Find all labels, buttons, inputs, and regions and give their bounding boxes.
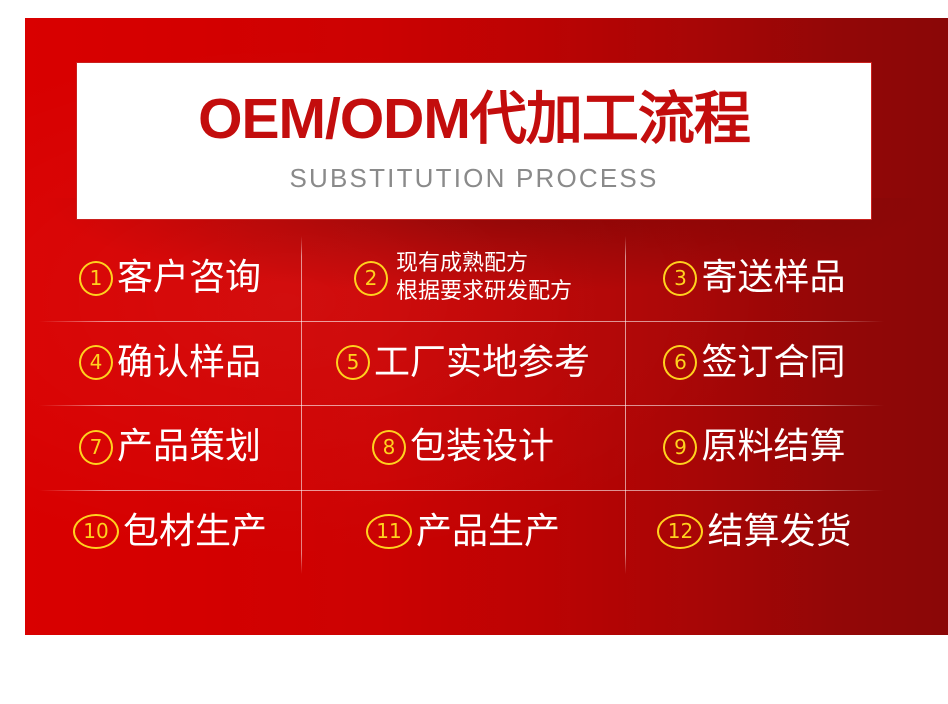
process-step-10[interactable]: 10包材生产 [39,490,301,575]
page-title: OEM/ODM代加工流程 [198,90,750,150]
title-banner: OEM/ODM代加工流程 SUBSTITUTION PROCESS [76,62,872,220]
step-number-badge: 4 [79,345,113,380]
step-label-line1: 现有成熟配方 [396,250,572,278]
process-step-6[interactable]: 6签订合同 [625,321,884,406]
step-number-badge: 8 [372,430,406,465]
process-step-4[interactable]: 4确认样品 [39,321,301,406]
step-number-badge: 2 [354,261,388,296]
step-label-line2: 根据要求研发配方 [396,278,572,306]
step-number-badge: 12 [657,514,703,549]
step-label: 确认样品 [117,345,261,381]
process-step-8[interactable]: 8包装设计 [301,405,625,490]
poster-root: OEM/ODM代加工流程 SUBSTITUTION PROCESS 1客户咨询2… [0,0,948,704]
step-label: 工厂实地参考 [374,345,590,381]
process-grid: 1客户咨询2现有成熟配方根据要求研发配方3寄送样品4确认样品5工厂实地参考6签订… [39,236,884,574]
step-number-badge: 3 [663,261,697,296]
step-label: 产品策划 [117,429,261,465]
step-label: 现有成熟配方根据要求研发配方 [396,250,572,306]
step-number-badge: 10 [73,514,119,549]
process-step-5[interactable]: 5工厂实地参考 [301,321,625,406]
step-label: 原料结算 [701,429,845,465]
page-subtitle: SUBSTITUTION PROCESS [289,163,658,194]
step-number-badge: 6 [663,345,697,380]
process-step-2[interactable]: 2现有成熟配方根据要求研发配方 [301,236,625,321]
process-step-9[interactable]: 9原料结算 [625,405,884,490]
step-label: 签订合同 [701,345,845,381]
step-number-badge: 7 [79,430,113,465]
step-label: 包装设计 [410,429,554,465]
process-step-1[interactable]: 1客户咨询 [39,236,301,321]
process-step-3[interactable]: 3寄送样品 [625,236,884,321]
step-label: 客户咨询 [117,260,261,296]
step-label: 寄送样品 [701,260,845,296]
process-step-7[interactable]: 7产品策划 [39,405,301,490]
step-number-badge: 9 [663,430,697,465]
process-step-11[interactable]: 11产品生产 [301,490,625,575]
step-label: 包材生产 [123,514,267,550]
step-label: 产品生产 [416,514,560,550]
step-number-badge: 11 [366,514,412,549]
step-label: 结算发货 [707,514,851,550]
step-number-badge: 1 [79,261,113,296]
process-step-12[interactable]: 12结算发货 [625,490,884,575]
step-number-badge: 5 [336,345,370,380]
